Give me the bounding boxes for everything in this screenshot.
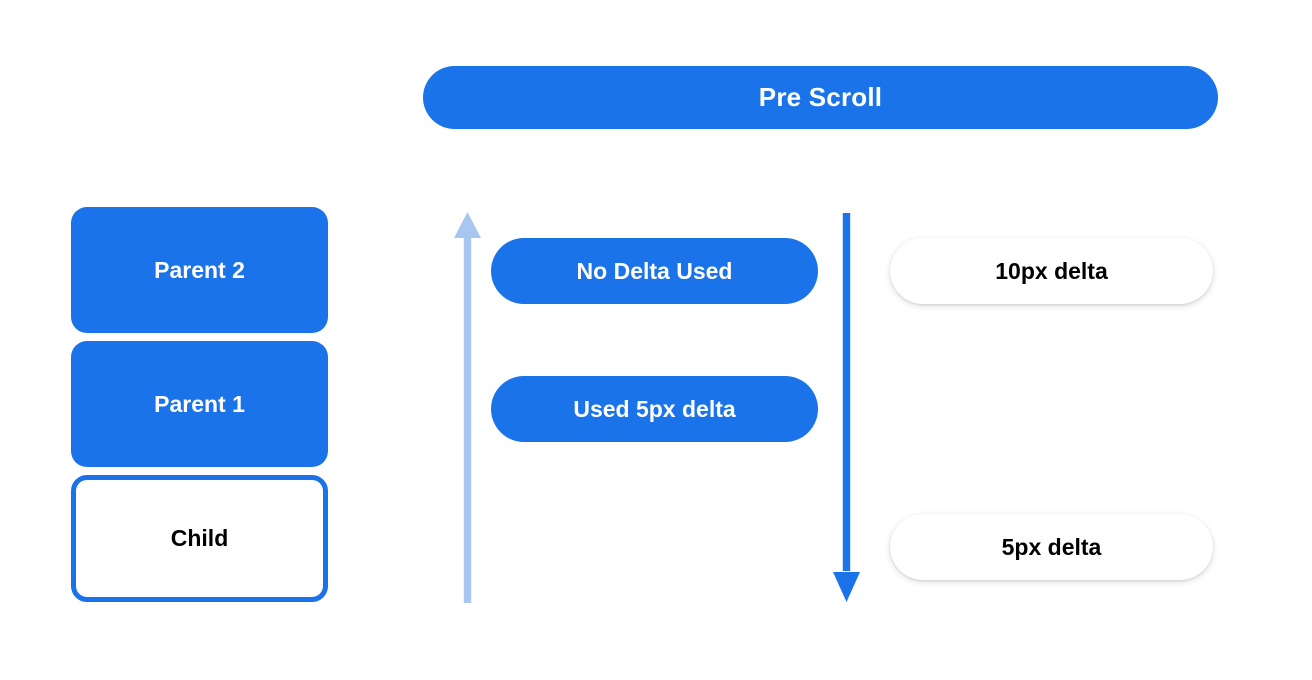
element-stack: Parent 2 Parent 1 Child	[71, 207, 328, 602]
pill-no-delta-used: No Delta Used	[491, 238, 818, 304]
down-arrow-icon	[827, 210, 867, 605]
pill-used-5px-delta-label: Used 5px delta	[573, 396, 735, 423]
stack-box-parent-1-label: Parent 1	[154, 391, 245, 418]
up-arrow-icon	[448, 208, 488, 608]
pill-10px-delta-label: 10px delta	[995, 258, 1108, 285]
diagram-canvas: Pre Scroll Parent 2 Parent 1 Child No De…	[0, 0, 1312, 680]
pill-5px-delta-label: 5px delta	[1002, 534, 1102, 561]
pill-no-delta-used-label: No Delta Used	[577, 258, 733, 285]
stack-box-parent-2-label: Parent 2	[154, 257, 245, 284]
pre-scroll-banner: Pre Scroll	[423, 66, 1218, 129]
stack-box-child: Child	[71, 475, 328, 602]
stack-box-child-label: Child	[171, 525, 229, 552]
pill-5px-delta: 5px delta	[890, 514, 1213, 580]
stack-box-parent-2: Parent 2	[71, 207, 328, 333]
pre-scroll-banner-label: Pre Scroll	[759, 82, 882, 113]
pill-used-5px-delta: Used 5px delta	[491, 376, 818, 442]
pill-10px-delta: 10px delta	[890, 238, 1213, 304]
stack-box-parent-1: Parent 1	[71, 341, 328, 467]
